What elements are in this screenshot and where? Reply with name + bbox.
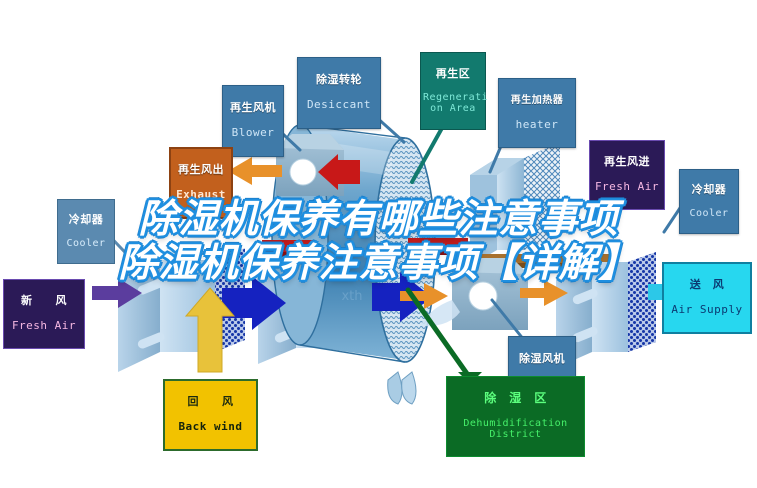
label-cooler-right-en: Cooler <box>682 208 736 219</box>
label-air-supply-en: Air Supply <box>666 304 748 316</box>
label-dehumid-blower-cn: 除湿风机 <box>512 353 572 365</box>
label-back-wind-en: Back wind <box>167 421 254 433</box>
label-dehumidification-district-cn: 除 湿 区 <box>449 392 582 405</box>
label-desiccant-wheel: 除湿转轮 Desiccant <box>297 57 381 129</box>
label-regeneration-area-cn: 再生区 <box>423 68 483 80</box>
label-back-wind: 回 风 Back wind <box>163 379 258 451</box>
label-cooler-left-en: Cooler <box>60 238 112 249</box>
label-air-supply-cn: 送 风 <box>666 279 748 291</box>
label-regen-exhaust-cn: 再生风出 <box>173 164 229 176</box>
label-dehumidification-district: 除 湿 区 Dehumidification District <box>446 376 585 457</box>
regen-exhaust-arrow <box>228 157 282 185</box>
regen-duct-right <box>408 238 468 255</box>
label-cooler-left: 冷却器 Cooler <box>57 199 115 264</box>
label-desiccant-wheel-en: Desiccant <box>301 99 377 111</box>
label-regen-fresh-air-en: Fresh Air <box>592 181 662 193</box>
label-cooler-right: 冷却器 Cooler <box>679 169 739 234</box>
label-fresh-air-inlet: 新 风 Fresh Air <box>3 279 85 349</box>
label-regen-exhaust-en: Exhaust <box>173 189 229 201</box>
svg-text:xth: xth <box>341 289 362 304</box>
label-regen-blower-cn: 再生风机 <box>226 102 280 114</box>
label-regeneration-area-en: Regenerati on Area <box>423 92 483 114</box>
label-fresh-air-inlet-cn: 新 风 <box>6 295 82 307</box>
label-regen-fresh-air: 再生风进 Fresh Air <box>589 140 665 210</box>
label-regen-blower: 再生风机 Blower <box>222 85 284 157</box>
label-regen-blower-en: Blower <box>226 127 280 139</box>
label-desiccant-wheel-cn: 除湿转轮 <box>301 74 377 86</box>
label-air-supply: 送 风 Air Supply <box>662 262 752 334</box>
label-regen-exhaust: 再生风出 Exhaust <box>169 147 233 219</box>
regen-duct-left <box>262 240 314 257</box>
dehumidifier-diagram-image: xth <box>0 0 757 488</box>
label-regen-fresh-air-cn: 再生风进 <box>592 156 662 168</box>
label-regeneration-heater: 再生加热器 heater <box>498 78 576 148</box>
label-regeneration-heater-cn: 再生加热器 <box>502 95 572 106</box>
label-regeneration-heater-en: heater <box>502 119 572 131</box>
label-cooler-right-cn: 冷却器 <box>682 184 736 196</box>
label-back-wind-cn: 回 风 <box>167 396 254 408</box>
label-regeneration-area: 再生区 Regenerati on Area <box>420 52 486 130</box>
label-dehumidification-district-en: Dehumidification District <box>449 418 582 440</box>
label-cooler-left-cn: 冷却器 <box>60 214 112 226</box>
label-fresh-air-inlet-en: Fresh Air <box>6 320 82 332</box>
